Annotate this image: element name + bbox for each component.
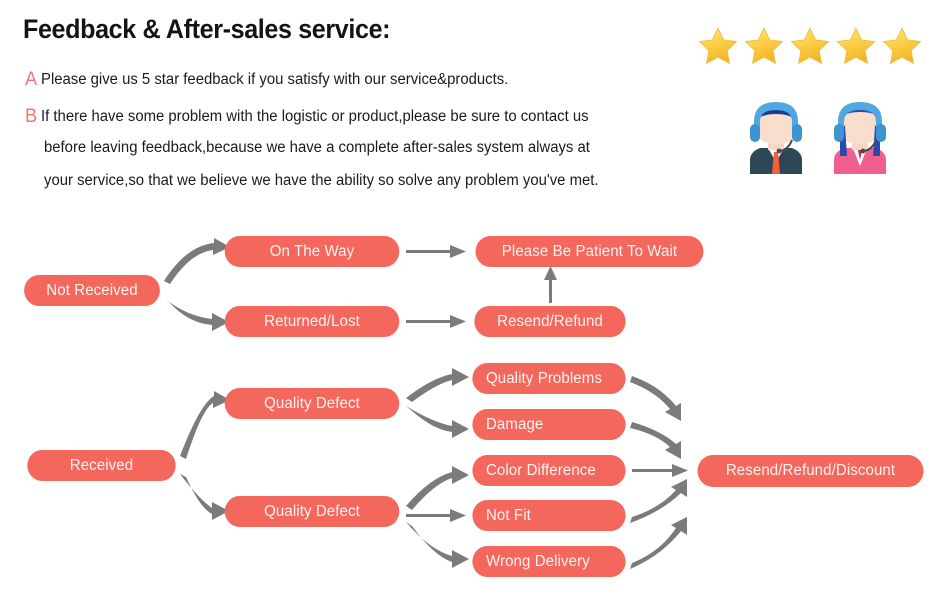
node-please-be-patient-to-wait[interactable]: Please Be Patient To Wait [476, 236, 704, 267]
arrow-wrong-delivery-to-resend-refund-discount [630, 517, 687, 569]
node-label: On The Way [270, 243, 355, 261]
arrow-quality-defect-1-to-quality-problems [406, 368, 469, 402]
node-label: Please Be Patient To Wait [502, 243, 677, 261]
node-label: Quality Defect [264, 395, 360, 413]
feedback-after-sales-infographic: Feedback & After-sales service: APlease … [0, 0, 950, 600]
node-label: Returned/Lost [264, 313, 360, 331]
node-quality-defect-1[interactable]: Quality Defect [225, 388, 400, 419]
node-not-fit[interactable]: Not Fit [472, 500, 625, 531]
arrow-not-fit-to-resend-refund-discount [630, 479, 687, 523]
node-label: Quality Problems [486, 370, 602, 388]
node-color-difference[interactable]: Color Difference [472, 455, 625, 486]
arrow-quality-defect-2-to-color-difference [406, 466, 469, 510]
node-label: Resend/Refund [497, 313, 603, 331]
node-label: Not Received [46, 282, 137, 300]
arrow-color-difference-to-resend-refund-discount [632, 464, 688, 477]
arrow-not-received-to-on-the-way [164, 238, 230, 284]
node-resend-refund[interactable]: Resend/Refund [474, 306, 625, 337]
node-damage[interactable]: Damage [472, 409, 625, 440]
node-on-the-way[interactable]: On The Way [225, 236, 400, 267]
arrow-not-received-to-returned-lost [164, 298, 229, 331]
arrow-received-to-quality-defect-1 [180, 391, 230, 459]
node-label: Wrong Delivery [486, 553, 590, 571]
node-wrong-delivery[interactable]: Wrong Delivery [472, 546, 625, 577]
node-label: Quality Defect [264, 503, 360, 521]
arrow-received-to-quality-defect-2 [180, 474, 229, 520]
arrow-resend-refund-to-please-be-patient [544, 266, 557, 303]
arrow-returned-lost-to-resend-refund [406, 315, 466, 328]
node-label: Not Fit [486, 507, 531, 525]
node-label: Color Difference [486, 462, 596, 480]
node-quality-defect-2[interactable]: Quality Defect [225, 496, 400, 527]
after-sales-flowchart: Not Received On The Way Returned/Lost Pl… [0, 0, 950, 600]
arrow-quality-defect-2-to-not-fit [406, 509, 466, 522]
arrow-on-the-way-to-please-be-patient [406, 245, 466, 258]
arrow-quality-problems-to-resend-refund-discount [630, 376, 681, 421]
arrow-damage-to-resend-refund-discount [630, 422, 681, 459]
node-label: Resend/Refund/Discount [726, 462, 895, 480]
arrow-quality-defect-2-to-wrong-delivery [406, 522, 469, 568]
node-label: Damage [486, 416, 543, 434]
node-resend-refund-discount[interactable]: Resend/Refund/Discount [697, 455, 923, 487]
node-not-received[interactable]: Not Received [24, 275, 160, 306]
node-returned-lost[interactable]: Returned/Lost [225, 306, 400, 337]
arrow-quality-defect-1-to-damage [406, 406, 469, 438]
node-label: Received [70, 457, 133, 475]
node-quality-problems[interactable]: Quality Problems [472, 363, 625, 394]
node-received[interactable]: Received [27, 450, 175, 481]
